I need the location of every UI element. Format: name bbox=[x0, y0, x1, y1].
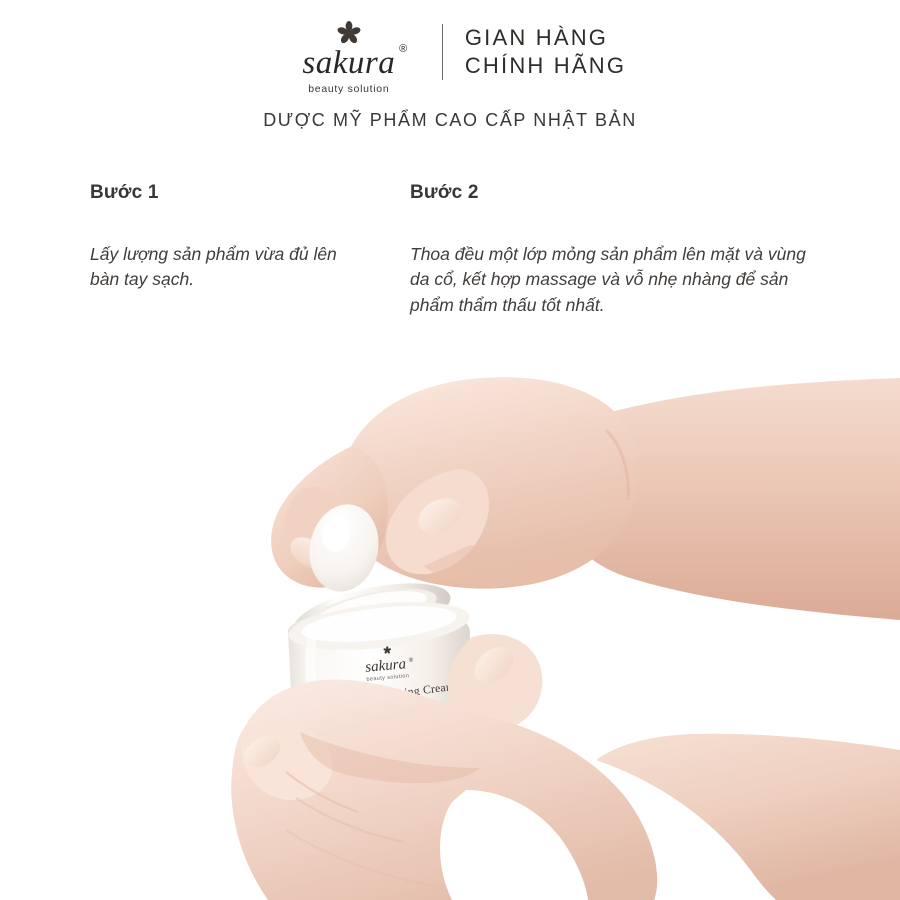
brand-header: sakura ® beauty solution GIAN HÀNGCHÍNH … bbox=[0, 0, 900, 140]
sakura-logo: sakura ® beauty solution bbox=[274, 18, 424, 95]
brand-wordmark-wrap: sakura ® bbox=[302, 47, 395, 80]
product-instruction-page: sakura ® beauty solution GIAN HÀNGCHÍNH … bbox=[0, 0, 900, 900]
official-store-title-line1: GIAN HÀNG bbox=[465, 25, 608, 50]
official-store-title-line2: CHÍNH HÃNG bbox=[465, 53, 626, 78]
brand-tagline: beauty solution bbox=[274, 83, 424, 95]
official-store-title: GIAN HÀNGCHÍNH HÃNG bbox=[465, 18, 626, 79]
brand-wordmark: sakura bbox=[302, 45, 395, 81]
step-2-title: Bước 2 bbox=[410, 182, 479, 204]
upper-hand bbox=[271, 377, 900, 620]
product-photo-illustration: sakura ® beauty solution Spots Care Brig… bbox=[0, 320, 900, 900]
usage-steps: Bước 1 Lấy lượng sản phẩm vừa đủ lên bàn… bbox=[0, 170, 900, 330]
brand-subtitle: DƯỢC MỸ PHẨM CAO CẤP NHẬT BẢN bbox=[0, 110, 900, 131]
sakura-flower-icon bbox=[336, 20, 362, 46]
registered-trademark-icon: ® bbox=[399, 44, 407, 55]
header-divider bbox=[442, 24, 443, 80]
step-1-title: Bước 1 bbox=[90, 182, 159, 204]
brand-row: sakura ® beauty solution GIAN HÀNGCHÍNH … bbox=[0, 18, 900, 95]
step-2-description: Thoa đều một lớp mỏng sản phẩm lên mặt v… bbox=[410, 242, 825, 318]
product-photo: sakura ® beauty solution Spots Care Brig… bbox=[0, 320, 900, 900]
step-1-description: Lấy lượng sản phẩm vừa đủ lên bàn tay sạ… bbox=[90, 242, 360, 293]
